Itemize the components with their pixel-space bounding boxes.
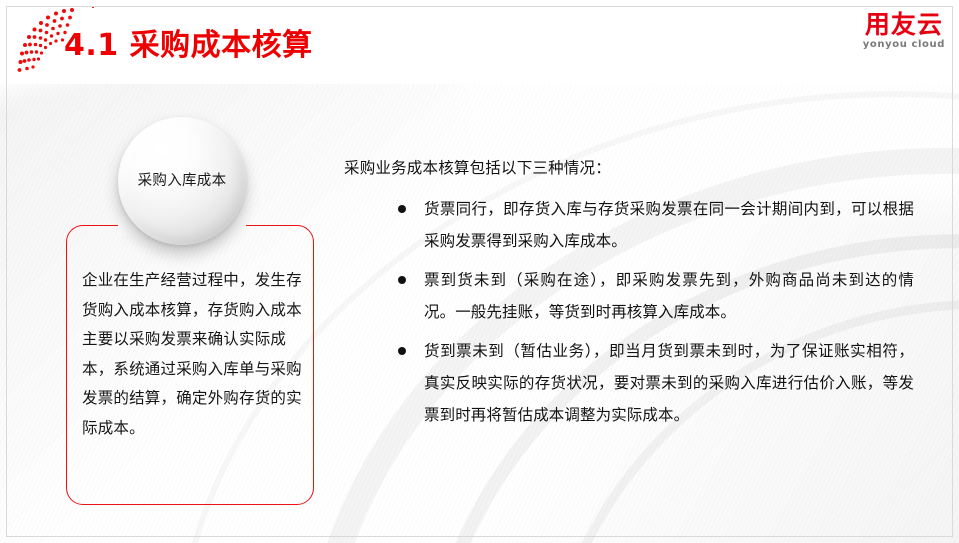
bullet-list: 货票同行，即存货入库与存货采购发票在同一会计期间内到，可以根据采购发票得到采购入… — [344, 193, 914, 431]
bullet-dot-icon — [398, 347, 406, 355]
bullet-dot-icon — [398, 205, 406, 213]
page-title: 4.1 采购成本核算 — [64, 20, 313, 64]
list-item-text: 票到货未到（采购在途），即采购发票先到，外购商品尚未到达的情况。一般先挂账，等货… — [424, 271, 914, 321]
logo-chinese-text: 用友云 — [863, 12, 945, 37]
bullet-dot-icon — [398, 276, 406, 284]
list-item-text: 货到票未到（暂估业务），即当月货到票未到时，为了保证账实相符，真实反映实际的存货… — [424, 342, 914, 424]
list-item: 票到货未到（采购在途），即采购发票先到，外购商品尚未到达的情况。一般先挂账，等货… — [344, 264, 914, 328]
sphere-badge: 采购入库成本 — [118, 117, 246, 245]
left-callout-body-text: 企业在生产经营过程中，发生存货购入成本核算，存货购入成本主要以采购发票来确认实际… — [82, 266, 304, 443]
logo-english-text: yonyou cloud — [863, 40, 945, 50]
slide-canvas: 4.1 采购成本核算 用友云 yonyou cloud 采购入库成本 企业在生产… — [0, 0, 959, 543]
right-content-column: 采购业务成本核算包括以下三种情况： 货票同行，即存货入库与存货采购发票在同一会计… — [344, 155, 914, 438]
brand-logo: 用友云 yonyou cloud — [863, 12, 945, 50]
intro-paragraph: 采购业务成本核算包括以下三种情况： — [344, 155, 914, 181]
list-item: 货票同行，即存货入库与存货采购发票在同一会计期间内到，可以根据采购发票得到采购入… — [344, 193, 914, 257]
list-item: 货到票未到（暂估业务），即当月货到票未到时，为了保证账实相符，真实反映实际的存货… — [344, 335, 914, 431]
sphere-badge-label: 采购入库成本 — [118, 117, 246, 245]
list-item-text: 货票同行，即存货入库与存货采购发票在同一会计期间内到，可以根据采购发票得到采购入… — [424, 200, 914, 250]
